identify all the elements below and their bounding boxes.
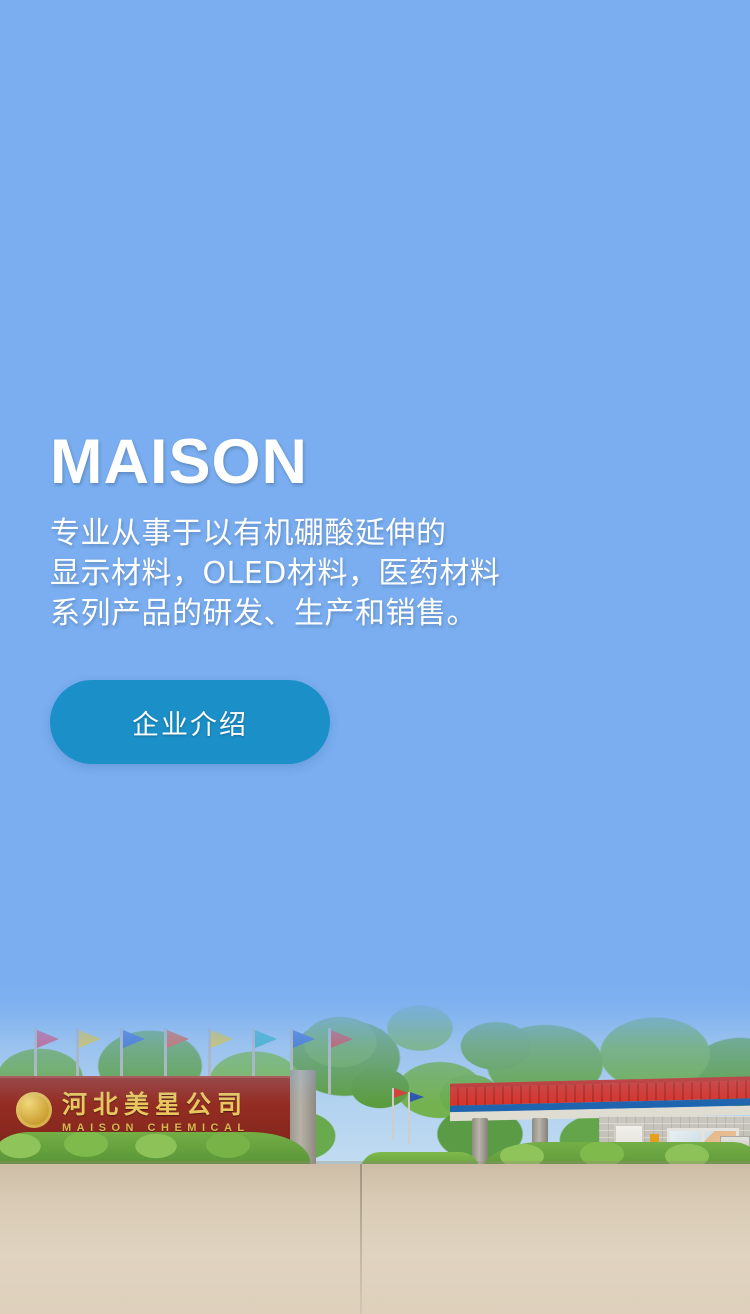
photo-sky-fade bbox=[0, 984, 750, 1104]
tagline-line-2: 显示材料，OLED材料，医药材料 bbox=[50, 554, 710, 594]
tagline-line-3: 系列产品的研发、生产和销售。 bbox=[50, 594, 710, 634]
page-title: MAISON bbox=[50, 430, 710, 494]
factory-entrance-photo: 河北美星公司 MAISON CHEMICAL bbox=[0, 984, 750, 1314]
company-intro-button[interactable]: 企业介绍 bbox=[50, 680, 330, 764]
hero-content: MAISON 专业从事于以有机硼酸延伸的 显示材料，OLED材料，医药材料 系列… bbox=[50, 430, 710, 764]
pavement bbox=[0, 1164, 750, 1314]
hero-banner: 河北美星公司 MAISON CHEMICAL MAISON bbox=[0, 0, 750, 1314]
tagline-line-1: 专业从事于以有机硼酸延伸的 bbox=[50, 514, 710, 554]
hero-tagline: 专业从事于以有机硼酸延伸的 显示材料，OLED材料，医药材料 系列产品的研发、生… bbox=[50, 514, 710, 634]
